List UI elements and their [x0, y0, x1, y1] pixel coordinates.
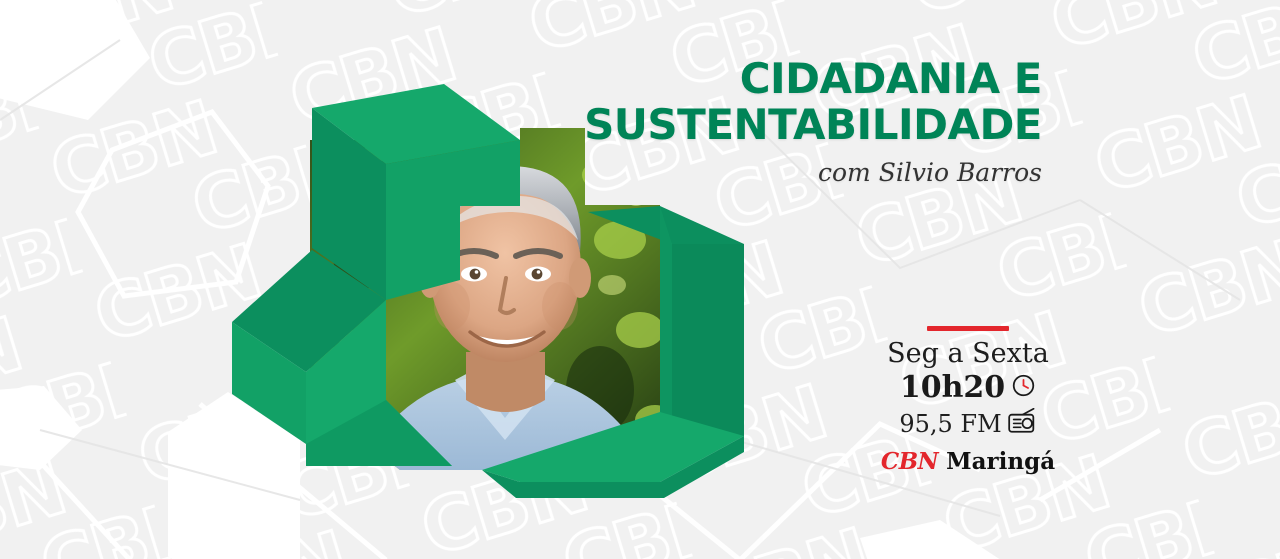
- schedule-frequency-row: 95,5 FM: [886, 408, 1050, 439]
- program-host-subtitle: com Silvio Barros: [342, 159, 1042, 187]
- schedule-time: 10h20: [900, 371, 1005, 405]
- program-banner: CBN CBN: [0, 0, 1280, 559]
- red-divider-rule: [927, 326, 1009, 331]
- program-title-line-1: CIDADANIA E: [342, 56, 1042, 102]
- program-title-block: CIDADANIA E SUSTENTABILIDADE com Silvio …: [342, 56, 1042, 187]
- station-city: Maringá: [946, 450, 1055, 474]
- radio-icon: [1007, 408, 1037, 439]
- program-title-line-2: SUSTENTABILIDADE: [342, 102, 1042, 148]
- station-brand: CBN: [881, 450, 938, 474]
- schedule-frequency: 95,5 FM: [899, 410, 1001, 438]
- clock-icon: [1011, 373, 1036, 403]
- schedule-block: Seg a Sexta 10h20 95,5 FM: [886, 326, 1050, 474]
- schedule-time-row: 10h20: [886, 371, 1050, 405]
- station-logo: CBN Maringá: [886, 450, 1050, 474]
- schedule-days: Seg a Sexta: [886, 339, 1050, 369]
